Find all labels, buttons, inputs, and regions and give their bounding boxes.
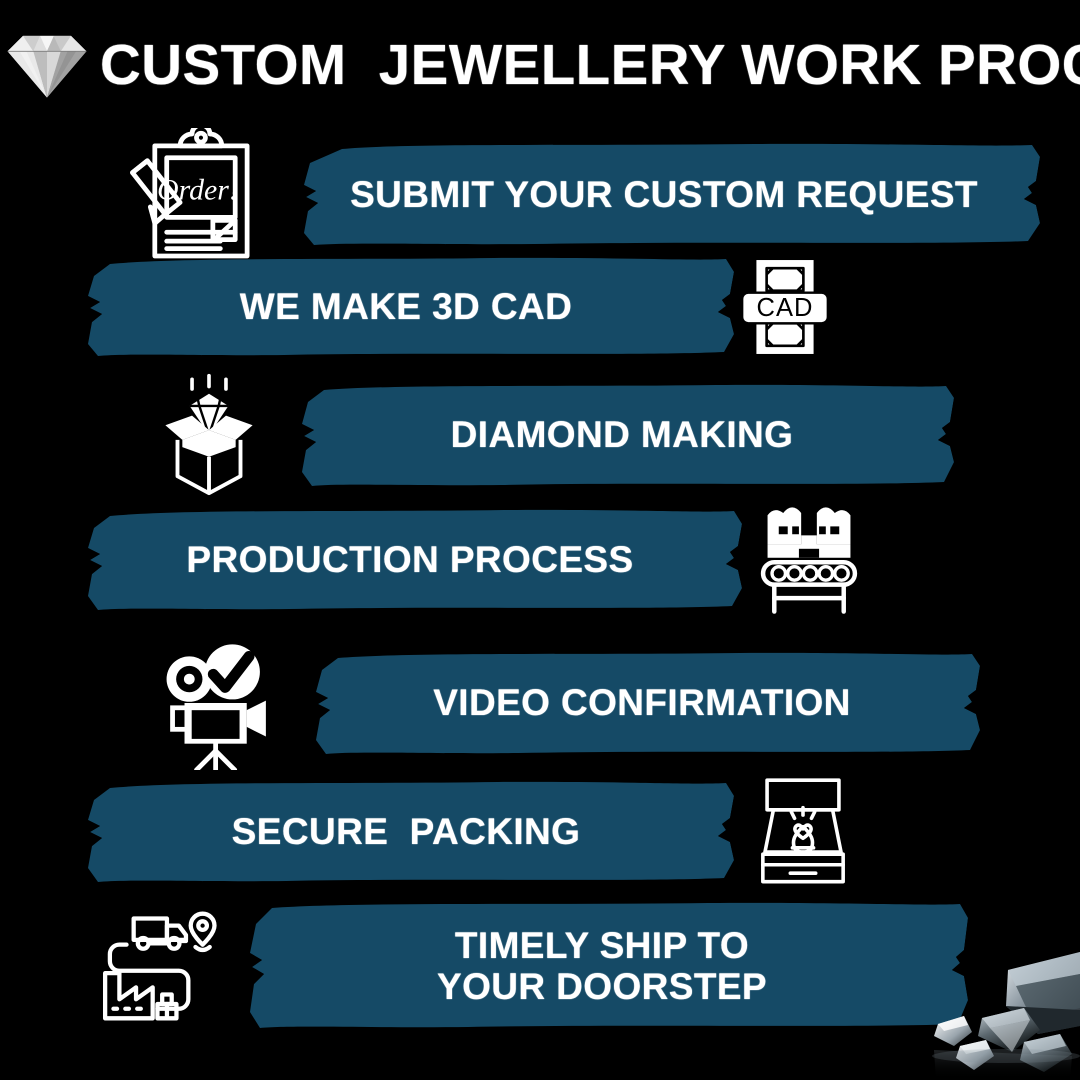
ring-box-icon bbox=[744, 776, 862, 888]
step-6-label: SECURE PACKING bbox=[232, 811, 581, 852]
step-6-banner: SECURE PACKING bbox=[74, 778, 738, 886]
step-7-icon-slot bbox=[98, 903, 224, 1029]
infographic-poster: CUSTOM JEWELLERY WORK PROCESS bbox=[0, 0, 1080, 1080]
clipboard-order-icon: Order! bbox=[120, 128, 270, 262]
poster-header: CUSTOM JEWELLERY WORK PROCESS bbox=[0, 22, 1080, 108]
step-4-banner: PRODUCTION PROCESS bbox=[74, 506, 746, 614]
step-5-label: VIDEO CONFIRMATION bbox=[433, 682, 851, 723]
step-3-icon-slot bbox=[148, 372, 270, 498]
step-4-icon-slot bbox=[746, 504, 872, 616]
step-row-2: WE MAKE 3D CAD CAD bbox=[74, 254, 838, 360]
step-5-icon-slot bbox=[160, 636, 288, 770]
step-5-banner: VIDEO CONFIRMATION bbox=[300, 650, 984, 756]
step-3-banner: DIAMOND MAKING bbox=[286, 382, 958, 488]
clipboard-order-text: Order! bbox=[157, 173, 239, 206]
step-row-7: TIMELY SHIP TO YOUR DOORSTEP bbox=[98, 900, 972, 1032]
step-row-6: SECURE PACKING bbox=[74, 776, 862, 888]
step-row-4: PRODUCTION PROCESS bbox=[74, 504, 872, 616]
step-2-icon-slot: CAD bbox=[732, 258, 838, 356]
step-6-icon-slot bbox=[744, 776, 862, 888]
step-3-label: DIAMOND MAKING bbox=[451, 414, 794, 455]
shipping-route-icon bbox=[98, 903, 224, 1029]
cad-file-icon: CAD bbox=[732, 258, 838, 356]
step-2-label: WE MAKE 3D CAD bbox=[240, 286, 572, 327]
step-1-label: SUBMIT YOUR CUSTOM REQUEST bbox=[350, 174, 978, 215]
diamond-gem-icon bbox=[4, 29, 90, 101]
open-box-diamond-icon bbox=[148, 372, 270, 498]
step-1-icon-slot: Order! bbox=[120, 128, 270, 262]
page-title: CUSTOM JEWELLERY WORK PROCESS bbox=[100, 37, 1080, 94]
conveyor-machine-icon bbox=[746, 504, 872, 616]
step-row-1: Order! SUBMIT YOUR CUSTOM REQUEST bbox=[120, 128, 1044, 262]
step-1-banner: SUBMIT YOUR CUSTOM REQUEST bbox=[284, 141, 1044, 249]
cad-icon-text: CAD bbox=[757, 294, 814, 322]
step-7-label: TIMELY SHIP TO YOUR DOORSTEP bbox=[437, 925, 767, 1008]
step-4-label: PRODUCTION PROCESS bbox=[186, 539, 633, 580]
step-row-5: VIDEO CONFIRMATION bbox=[160, 636, 984, 770]
step-row-3: DIAMOND MAKING bbox=[148, 372, 958, 498]
video-camera-check-icon bbox=[160, 636, 288, 770]
step-7-banner: TIMELY SHIP TO YOUR DOORSTEP bbox=[232, 900, 972, 1032]
step-2-banner: WE MAKE 3D CAD bbox=[74, 254, 738, 360]
